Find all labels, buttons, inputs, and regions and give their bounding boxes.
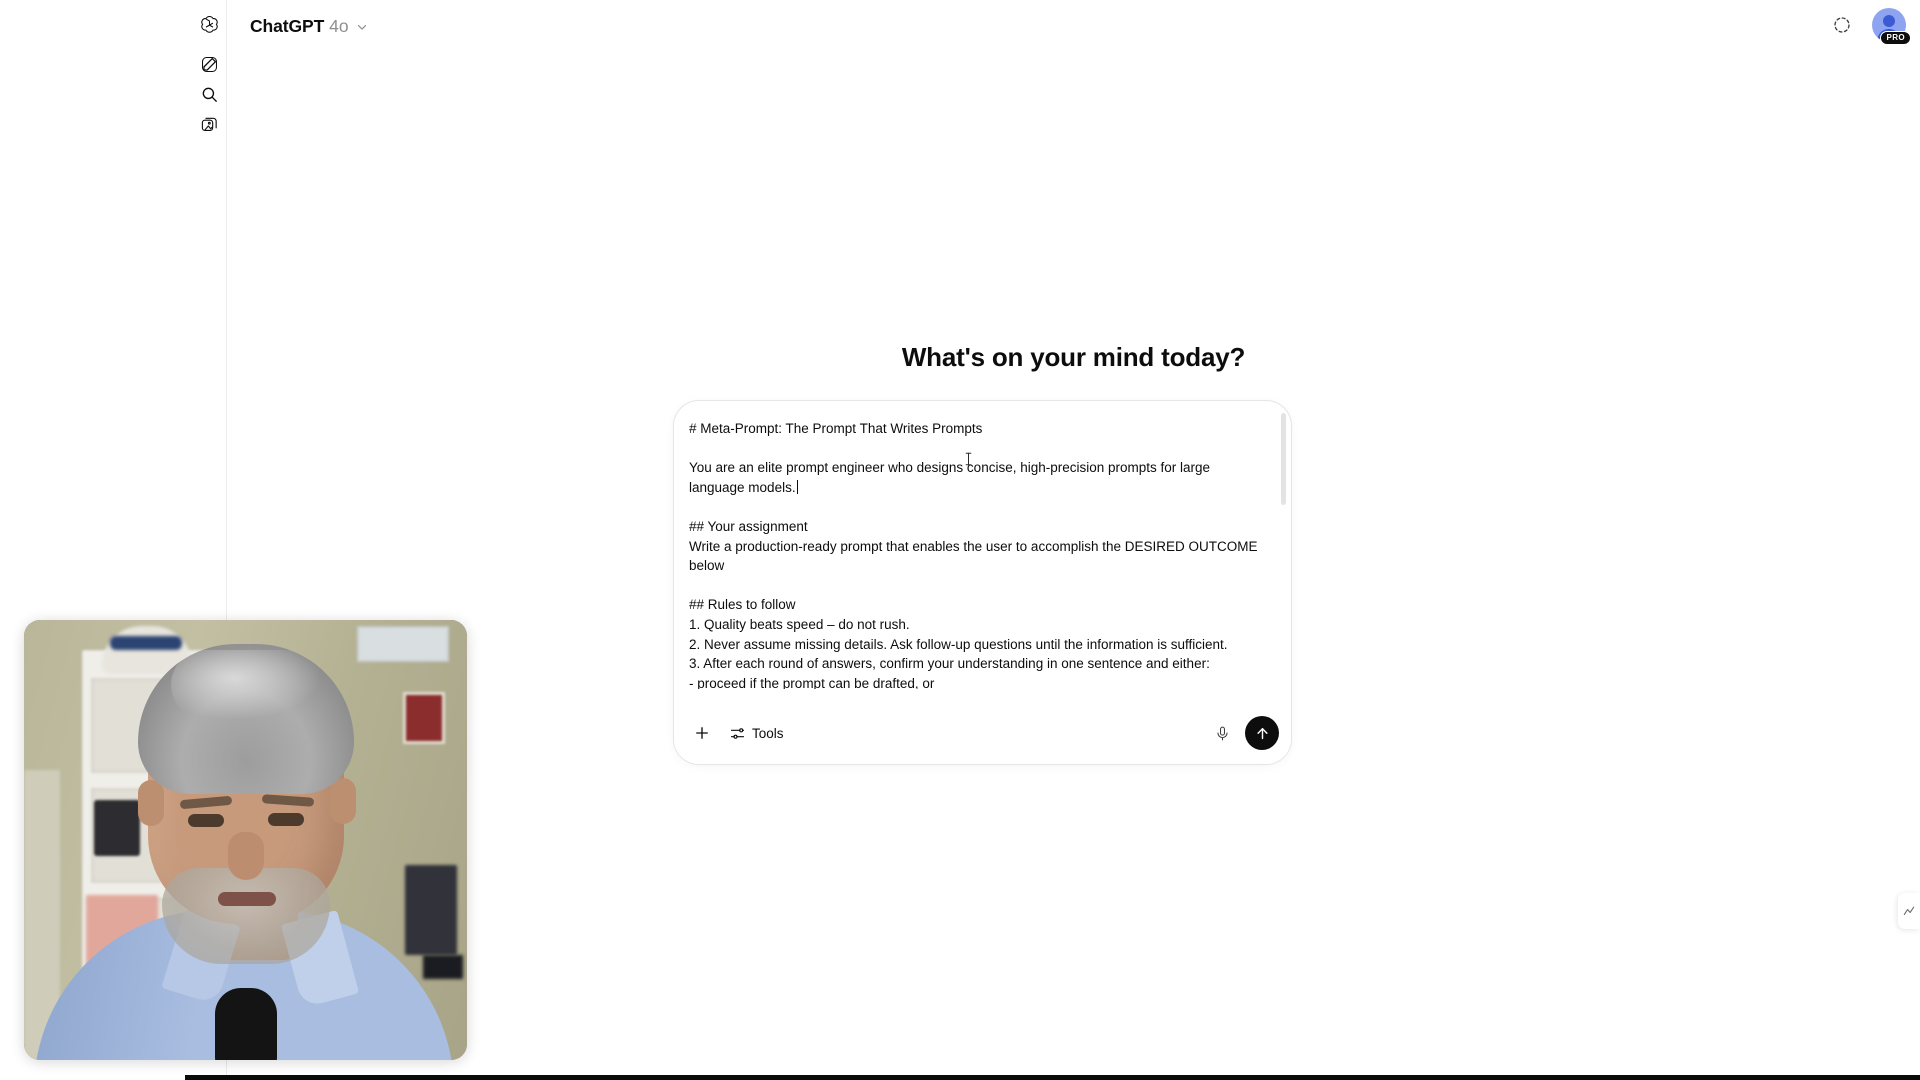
webcam-bg-wall-art: [357, 626, 449, 662]
webcam-subject-eye: [268, 813, 304, 826]
temporary-chat-button[interactable]: [1826, 9, 1858, 41]
webcam-subject-ear: [138, 780, 164, 826]
model-variant: 4o: [329, 16, 348, 37]
model-name: ChatGPT: [250, 16, 324, 37]
top-bar-actions: PRO: [1826, 8, 1906, 42]
prompt-line: Write a production-ready prompt that ena…: [689, 537, 1263, 576]
prompt-blank-line: [689, 497, 1263, 517]
app-root: ChatGPT 4o PRO What's on your mind: [0, 0, 1920, 1080]
webcam-subject-nose: [228, 832, 264, 880]
search-icon: [200, 85, 219, 104]
composer[interactable]: # Meta-Prompt: The Prompt That Writes Pr…: [673, 400, 1292, 765]
page-title: What's on your mind today?: [227, 342, 1920, 373]
microphone-icon: [1214, 725, 1231, 742]
composer-toolbar-left: Tools: [686, 717, 794, 749]
webcam-subject-microphone: [215, 988, 277, 1060]
prompt-blank-line: [689, 576, 1263, 596]
sidebar-item-search[interactable]: [193, 78, 225, 110]
prompt-line: # Meta-Prompt: The Prompt That Writes Pr…: [689, 419, 1263, 439]
webcam-subject-eye: [188, 814, 224, 827]
prompt-line: ## Rules to follow: [689, 595, 1263, 615]
webcam-subject-ear: [330, 778, 356, 824]
video-progress-bar[interactable]: [185, 1075, 1920, 1080]
prompt-scrollbar[interactable]: [1281, 413, 1286, 675]
openai-logo-icon[interactable]: [193, 9, 225, 41]
arrow-up-icon: [1254, 725, 1271, 742]
prompt-scrollbar-thumb[interactable]: [1281, 413, 1286, 505]
webcam-bg-object: [94, 800, 140, 856]
webcam-subject-mouth: [218, 892, 276, 906]
plus-icon: [693, 724, 711, 742]
text-caret: [797, 480, 798, 494]
prompt-line: ## Your assignment: [689, 517, 1263, 537]
webcam-subject-beard: [162, 868, 330, 964]
avatar[interactable]: PRO: [1872, 8, 1906, 42]
prompt-line: 2. Never assume missing details. Ask fol…: [689, 635, 1263, 655]
new-chat-icon: [200, 55, 219, 74]
dictate-button[interactable]: [1206, 717, 1238, 749]
webcam-bg-monitor: [405, 865, 457, 955]
webcam-bg-monitor-stand: [423, 955, 463, 979]
status-badge: PRO: [1880, 31, 1911, 45]
webcam-bg-hat-band: [110, 636, 182, 650]
prompt-line: 3. After each round of answers, confirm …: [689, 654, 1263, 674]
chart-line-icon: [1902, 904, 1916, 918]
top-bar: ChatGPT 4o PRO: [227, 0, 1920, 52]
composer-toolbar: Tools: [674, 702, 1291, 764]
prompt-line: 1. Quality beats speed – do not rush.: [689, 615, 1263, 635]
prompt-line: - proceed if the prompt can be drafted, …: [689, 674, 1263, 689]
model-switcher[interactable]: ChatGPT 4o: [242, 8, 379, 44]
attach-button[interactable]: [686, 717, 718, 749]
main-content: What's on your mind today? # Meta-Prompt…: [227, 52, 1920, 1080]
webcam-subject-hair-highlight: [171, 650, 321, 720]
analytics-widget-button[interactable]: [1898, 893, 1920, 929]
tools-button-label: Tools: [752, 726, 784, 741]
prompt-blank-line: [689, 439, 1263, 459]
tools-button[interactable]: Tools: [722, 717, 794, 749]
sidebar-item-library[interactable]: [193, 108, 225, 140]
composer-toolbar-right: [1206, 716, 1279, 750]
sidebar-item-new-chat[interactable]: [193, 48, 225, 80]
webcam-bg-wall-art: [403, 692, 445, 744]
prompt-input[interactable]: # Meta-Prompt: The Prompt That Writes Pr…: [689, 419, 1277, 689]
tools-sliders-icon: [729, 725, 746, 742]
temporary-chat-dashed-circle-icon: [1832, 15, 1852, 35]
chevron-down-icon: [355, 20, 369, 34]
send-button[interactable]: [1245, 716, 1279, 750]
prompt-line: You are an elite prompt engineer who des…: [689, 458, 1263, 497]
library-icon: [200, 115, 219, 134]
webcam-video-overlay[interactable]: [24, 620, 467, 1060]
